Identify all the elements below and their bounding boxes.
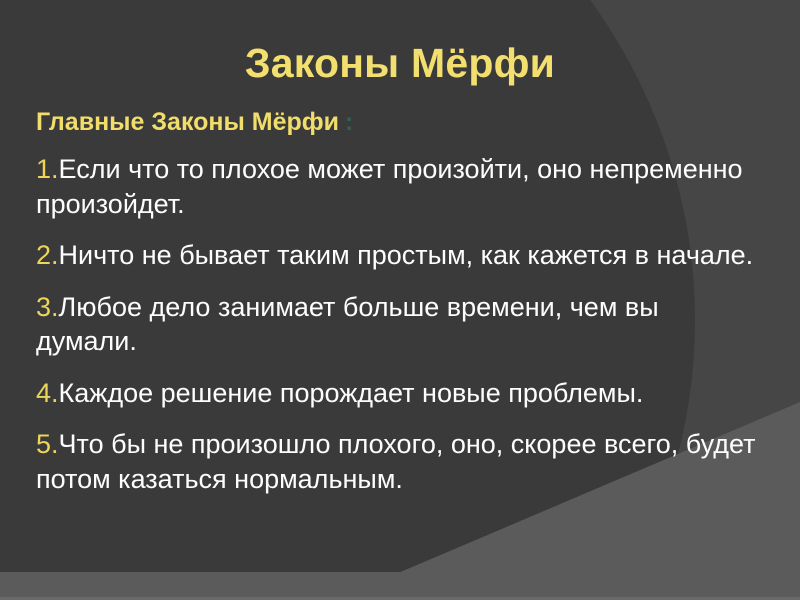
- list-item-number: 1.: [36, 154, 59, 184]
- slide-subtitle: Главные Законы Мёрфи:: [36, 108, 353, 137]
- list-item: 4.Каждое решение порождает новые проблем…: [36, 376, 760, 411]
- list-item-number: 3.: [36, 292, 59, 322]
- list-item: 3.Любое дело занимает больше времени, че…: [36, 290, 760, 359]
- slide-subtitle-text: Главные Законы Мёрфи: [36, 108, 339, 136]
- list-item-number: 2.: [36, 240, 59, 270]
- laws-list: 1.Если что то плохое может произойти, он…: [36, 152, 760, 513]
- list-item-number: 5.: [36, 429, 59, 459]
- list-item-text: Что бы не произошло плохого, оно, скорее…: [36, 429, 756, 494]
- list-item-text: Любое дело занимает больше времени, чем …: [36, 292, 659, 357]
- presentation-slide: Законы Мёрфи Главные Законы Мёрфи: 1.Есл…: [0, 0, 800, 600]
- list-item: 2.Ничто не бывает таким простым, как каж…: [36, 238, 760, 273]
- list-item-text: Ничто не бывает таким простым, как кажет…: [59, 240, 754, 270]
- list-item-text: Если что то плохое может произойти, оно …: [36, 154, 743, 219]
- list-item: 5.Что бы не произошло плохого, оно, скор…: [36, 427, 760, 496]
- slide-subtitle-colon: :: [339, 108, 353, 136]
- list-item: 1.Если что то плохое может произойти, он…: [36, 152, 760, 221]
- slide-title: Законы Мёрфи: [0, 42, 800, 85]
- list-item-text: Каждое решение порождает новые проблемы.: [59, 378, 644, 408]
- slide-content: Законы Мёрфи Главные Законы Мёрфи: 1.Есл…: [0, 0, 800, 600]
- list-item-number: 4.: [36, 378, 59, 408]
